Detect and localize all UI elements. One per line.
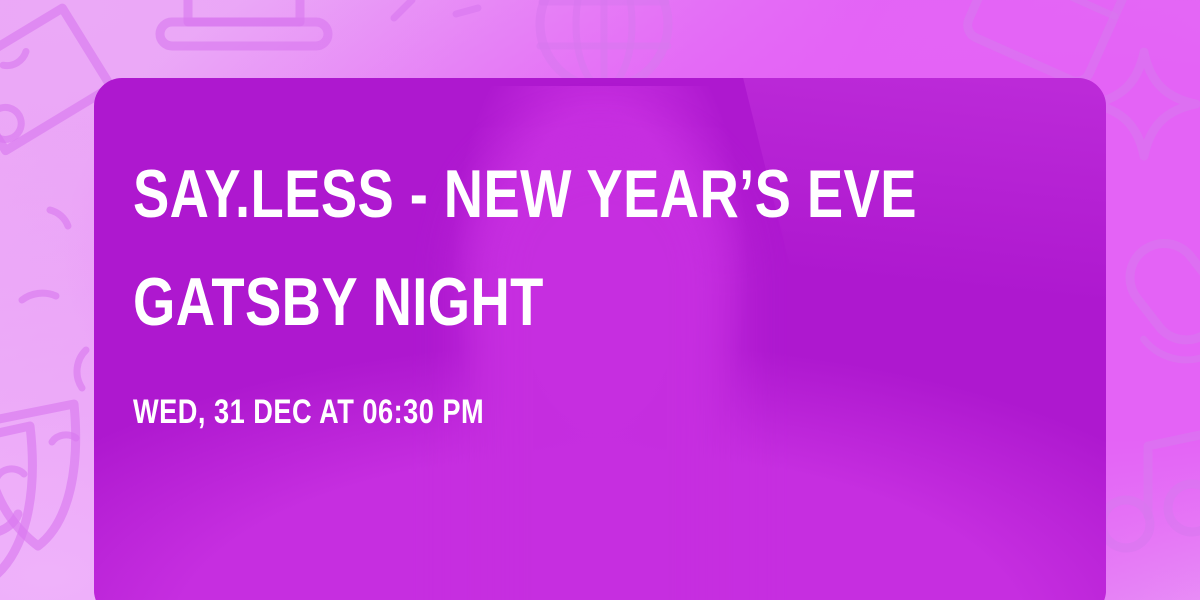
theater-masks-icon	[0, 404, 76, 580]
music-note-icon	[1102, 432, 1200, 548]
event-poster: SAY.LESS - NEW YEAR’S EVE GATSBY NIGHT W…	[0, 0, 1200, 600]
sparkle-icon	[1092, 52, 1196, 156]
event-datetime: WED, 31 DEC AT 06:30 PM	[133, 392, 879, 432]
party-popper-icon	[22, 210, 86, 388]
microphone-icon	[1101, 217, 1200, 411]
event-card[interactable]: SAY.LESS - NEW YEAR’S EVE GATSBY NIGHT W…	[94, 78, 1106, 600]
card-content: SAY.LESS - NEW YEAR’S EVE GATSBY NIGHT W…	[133, 140, 1066, 432]
event-title-line-2: GATSBY NIGHT	[133, 248, 879, 356]
laptop-icon	[160, 0, 328, 46]
confetti-icon	[394, 0, 478, 18]
globe-icon	[540, 0, 668, 88]
calendar-icon	[963, 0, 1136, 86]
event-title-line-1: SAY.LESS - NEW YEAR’S EVE	[133, 140, 879, 248]
